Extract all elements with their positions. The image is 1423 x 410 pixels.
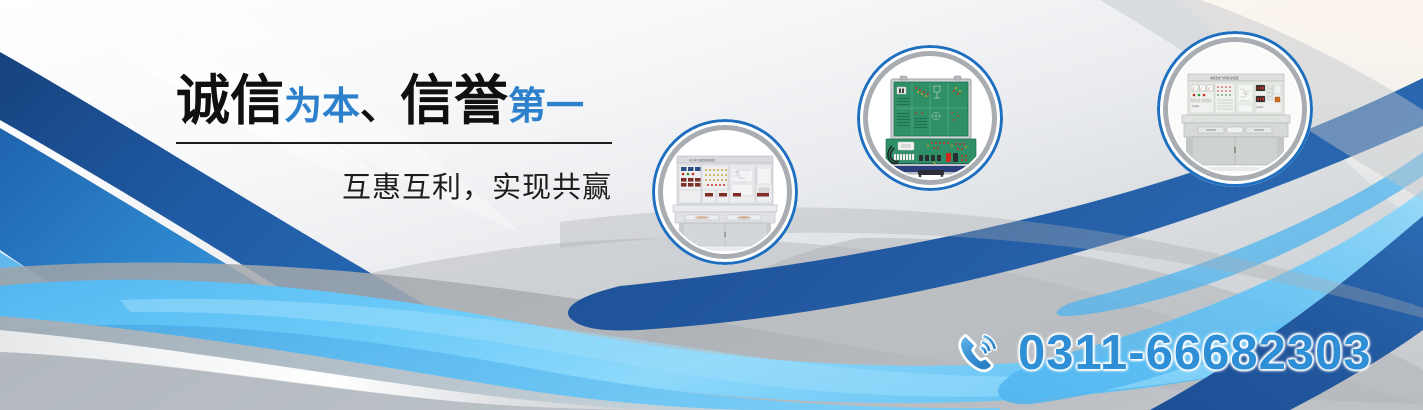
svg-text:电机及电气控制实训装置: 电机及电气控制实训装置 xyxy=(1210,76,1239,80)
product-photo-2 xyxy=(870,58,990,178)
phone-number[interactable]: 0311-66682303 xyxy=(1018,329,1372,378)
product-photo-3: 电机及电气控制实训装置 xyxy=(1170,44,1300,174)
headline-part3: 信誉 xyxy=(400,71,508,131)
headline-part4: 第一 xyxy=(508,86,584,128)
headline-subtitle: 互惠互利，实现共赢 xyxy=(176,164,612,206)
headline-part2: 为本 xyxy=(284,86,360,128)
headline-block: 诚信为本、信誉第一 互惠互利，实现共赢 xyxy=(176,74,616,206)
headline-divider xyxy=(176,142,612,144)
headline-part1: 诚信 xyxy=(176,71,284,131)
promo-banner: 诚信为本、信誉第一 互惠互利，实现共赢 电工电子实验实训考核台 xyxy=(0,0,1423,410)
product-photo-1: 电工电子实验实训考核台 xyxy=(665,132,785,252)
phone-contact-block[interactable]: 0311-66682303 xyxy=(952,327,1372,379)
headline-separator: 、 xyxy=(360,84,400,128)
svg-text:电工电子实验实训考核台: 电工电子实验实训考核台 xyxy=(689,158,716,162)
product-circle-3[interactable]: 电机及电气控制实训装置 xyxy=(1157,31,1313,187)
phone-call-icon xyxy=(952,327,1004,379)
headline: 诚信为本、信誉第一 xyxy=(176,74,616,128)
product-circle-2[interactable] xyxy=(857,45,1003,191)
product-circle-1[interactable]: 电工电子实验实训考核台 xyxy=(652,119,798,265)
